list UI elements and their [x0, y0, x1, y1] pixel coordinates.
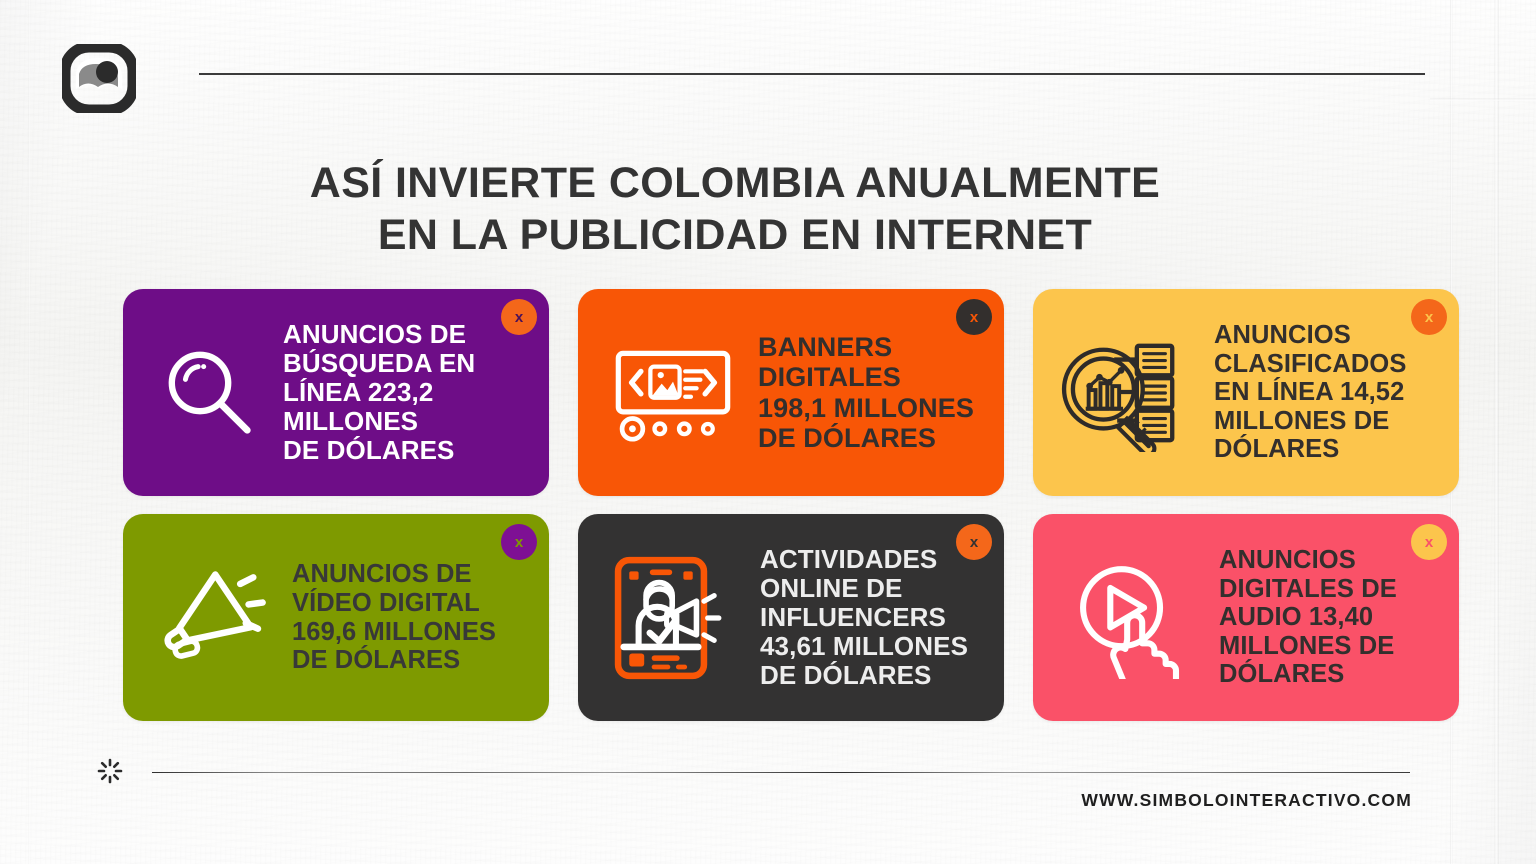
stat-card-anuncios-digitales-audio[interactable]: ANUNCIOS DIGITALES DE AUDIO 13,40 MILLON… — [1033, 514, 1459, 721]
close-badge[interactable]: x — [1411, 299, 1447, 335]
close-badge[interactable]: x — [956, 524, 992, 560]
stat-card-text: BANNERS DIGITALES 198,1 MILLONES DE DÓLA… — [758, 332, 974, 453]
magnifier-icon — [139, 343, 281, 443]
stat-card-anuncios-video-digital[interactable]: ANUNCIOS DE VÍDEO DIGITAL 169,6 MILLONES… — [123, 514, 549, 721]
paper-crease-horizontal — [1430, 98, 1536, 101]
infographic-canvas: ASÍ INVIERTE COLOMBIA ANUALMENTE EN LA P… — [0, 0, 1536, 864]
stat-card-banners-digitales[interactable]: BANNERS DIGITALES 198,1 MILLONES DE DÓLA… — [578, 289, 1004, 496]
page-title: ASÍ INVIERTE COLOMBIA ANUALMENTE EN LA P… — [0, 157, 1470, 262]
footer-website-url[interactable]: WWW.SIMBOLOINTERACTIVO.COM — [1081, 790, 1412, 811]
close-badge[interactable]: x — [501, 524, 537, 560]
page-title-line-2: EN LA PUBLICIDAD EN INTERNET — [0, 209, 1470, 261]
paper-crease-vertical-edge — [1494, 0, 1499, 864]
stat-card-anuncios-busqueda-en-linea[interactable]: ANUNCIOS DE BÚSQUEDA EN LÍNEA 223,2 MILL… — [123, 289, 549, 496]
close-badge[interactable]: x — [956, 299, 992, 335]
megaphone-icon — [137, 565, 292, 670]
analytics-magnifier-icon — [1039, 334, 1214, 452]
stat-card-text: ANUNCIOS CLASIFICADOS EN LÍNEA 14,52 MIL… — [1214, 321, 1406, 464]
stat-card-actividades-online-influencers[interactable]: ACTIVIDADES ONLINE DE INFLUENCERS 43,61 … — [578, 514, 1004, 721]
influencer-phone-icon — [590, 552, 760, 684]
close-badge[interactable]: x — [1411, 524, 1447, 560]
stat-card-anuncios-clasificados-en-linea[interactable]: ANUNCIOS CLASIFICADOS EN LÍNEA 14,52 MIL… — [1033, 289, 1459, 496]
banner-carousel-icon — [588, 342, 758, 444]
stat-card-text: ANUNCIOS DIGITALES DE AUDIO 13,40 MILLON… — [1219, 546, 1397, 689]
close-badge[interactable]: x — [501, 299, 537, 335]
stat-card-text: ACTIVIDADES ONLINE DE INFLUENCERS 43,61 … — [760, 545, 968, 691]
header-divider — [199, 73, 1425, 75]
play-click-icon — [1041, 557, 1219, 679]
eye-logo-icon — [62, 44, 136, 113]
paper-crease-vertical-left — [28, 0, 30, 864]
footer-divider — [152, 772, 1410, 773]
stat-card-text: ANUNCIOS DE BÚSQUEDA EN LÍNEA 223,2 MILL… — [283, 320, 475, 466]
stat-card-text: ANUNCIOS DE VÍDEO DIGITAL 169,6 MILLONES… — [292, 560, 496, 674]
sparkle-burst-icon — [96, 757, 124, 785]
stats-card-grid: ANUNCIOS DE BÚSQUEDA EN LÍNEA 223,2 MILL… — [123, 289, 1463, 721]
page-title-line-1: ASÍ INVIERTE COLOMBIA ANUALMENTE — [0, 157, 1470, 209]
